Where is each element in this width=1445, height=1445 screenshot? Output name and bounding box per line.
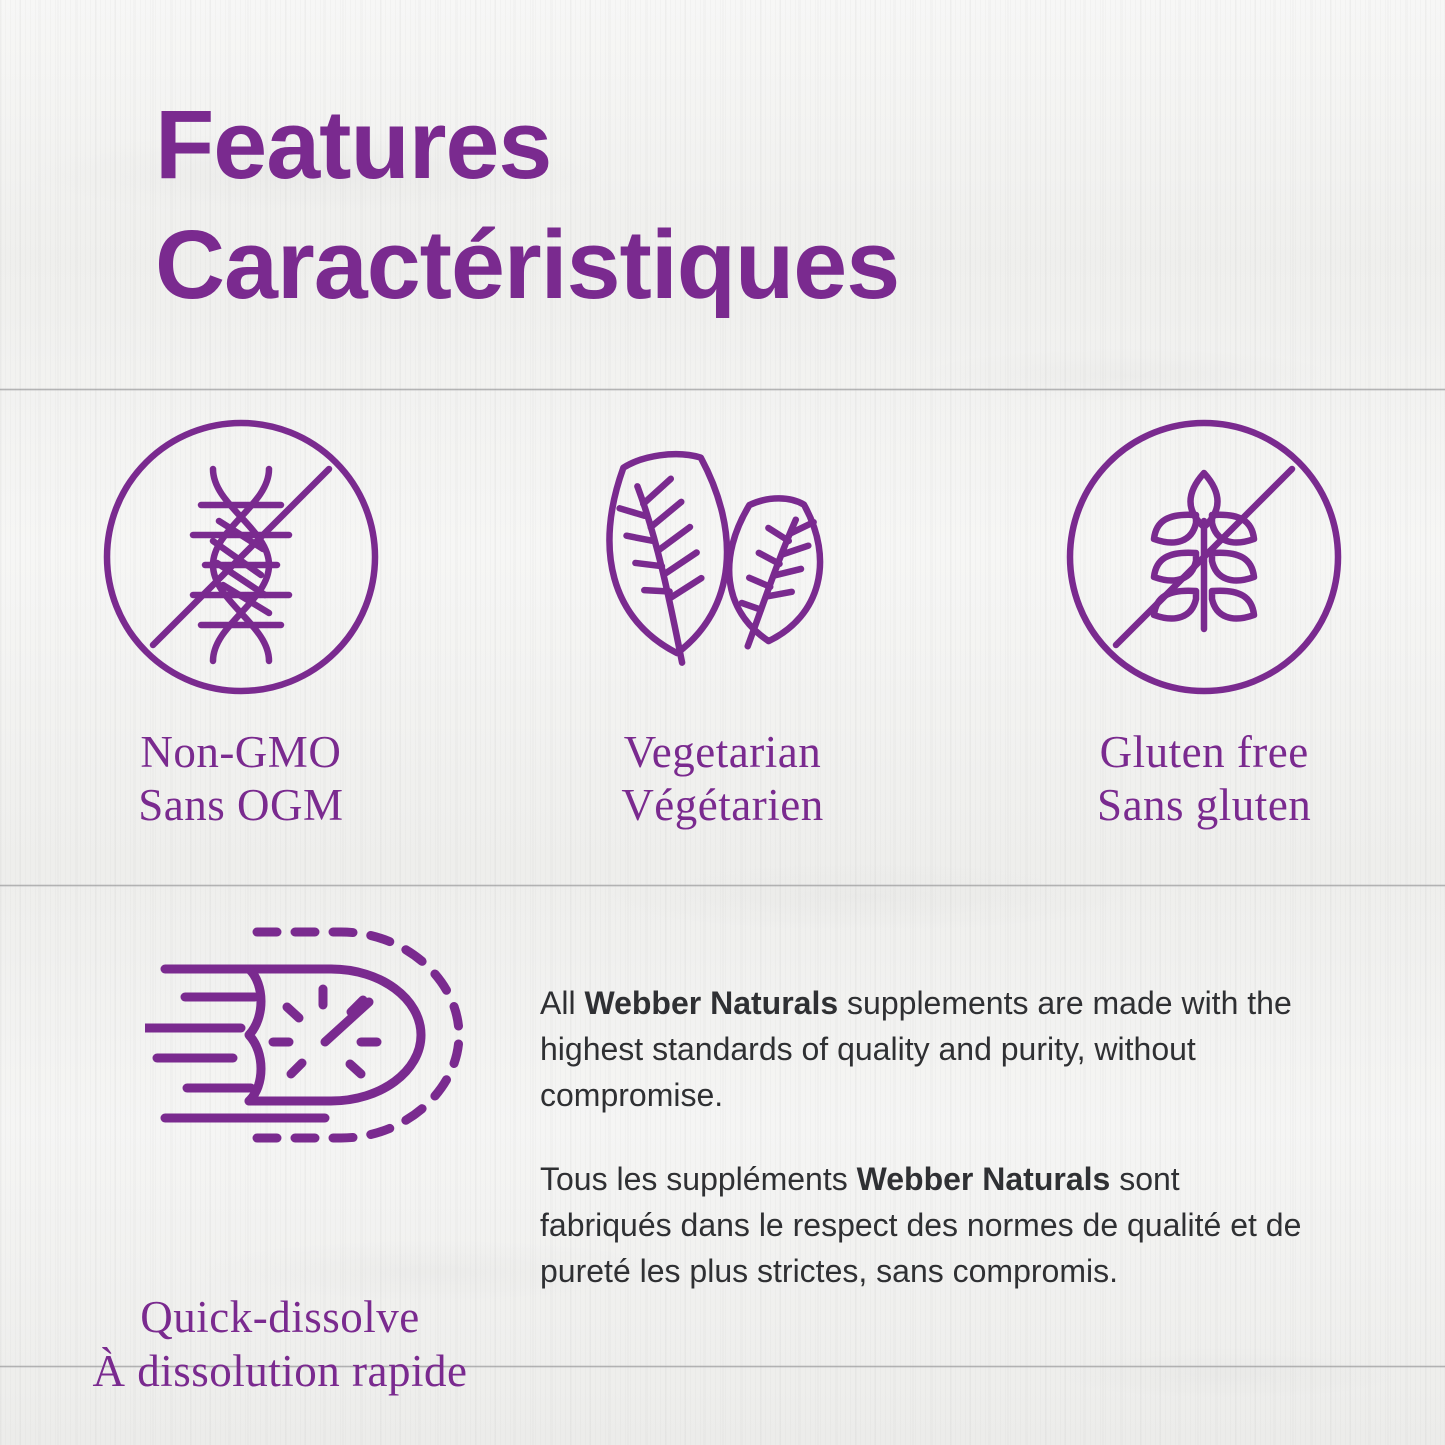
feature-row: Non-GMO Sans OGM (0, 412, 1445, 832)
brand-copy-en: All Webber Naturals supplements are made… (540, 980, 1320, 1118)
feature-label-non-gmo: Non-GMO Sans OGM (138, 726, 343, 832)
feature-label-non-gmo-fr: Sans OGM (138, 779, 343, 832)
fast-clock-icon (140, 910, 480, 1160)
feature-label-vegetarian-en: Vegetarian (621, 726, 823, 779)
quick-dissolve-label: Quick-dissolve À dissolution rapide (40, 1290, 520, 1398)
feature-label-gluten-free: Gluten free Sans gluten (1097, 726, 1311, 832)
page-title-fr: Caractéristiques (155, 216, 899, 313)
feature-label-gluten-free-en: Gluten free (1097, 726, 1311, 779)
plank-seam-2 (0, 884, 1445, 887)
plank-seam-1 (0, 388, 1445, 391)
copy-fr-brand: Webber Naturals (857, 1161, 1111, 1197)
feature-label-gluten-free-fr: Sans gluten (1097, 779, 1311, 832)
vegetarian-leaves-icon (583, 412, 863, 702)
gluten-free-wheat-icon (1064, 412, 1344, 702)
copy-en-before: All (540, 985, 584, 1021)
copy-fr-before: Tous les suppléments (540, 1161, 857, 1197)
copy-en-brand: Webber Naturals (584, 985, 838, 1021)
no-gmo-dna-icon (101, 412, 381, 702)
feature-item-non-gmo: Non-GMO Sans OGM (0, 412, 482, 832)
feature-item-gluten-free: Gluten free Sans gluten (963, 412, 1445, 832)
feature-label-non-gmo-en: Non-GMO (138, 726, 343, 779)
quick-dissolve-label-fr: À dissolution rapide (40, 1344, 520, 1398)
brand-copy: All Webber Naturals supplements are made… (540, 980, 1320, 1294)
page-title: Features Caractéristiques (155, 96, 899, 313)
feature-label-vegetarian-fr: Végétarien (621, 779, 823, 832)
feature-label-vegetarian: Vegetarian Végétarien (621, 726, 823, 832)
page-title-en: Features (155, 96, 899, 193)
feature-item-vegetarian: Vegetarian Végétarien (482, 412, 964, 832)
quick-dissolve-label-en: Quick-dissolve (40, 1290, 520, 1344)
brand-copy-fr: Tous les suppléments Webber Naturals son… (540, 1156, 1320, 1294)
features-infographic: Features Caractéristiques (0, 0, 1445, 1445)
